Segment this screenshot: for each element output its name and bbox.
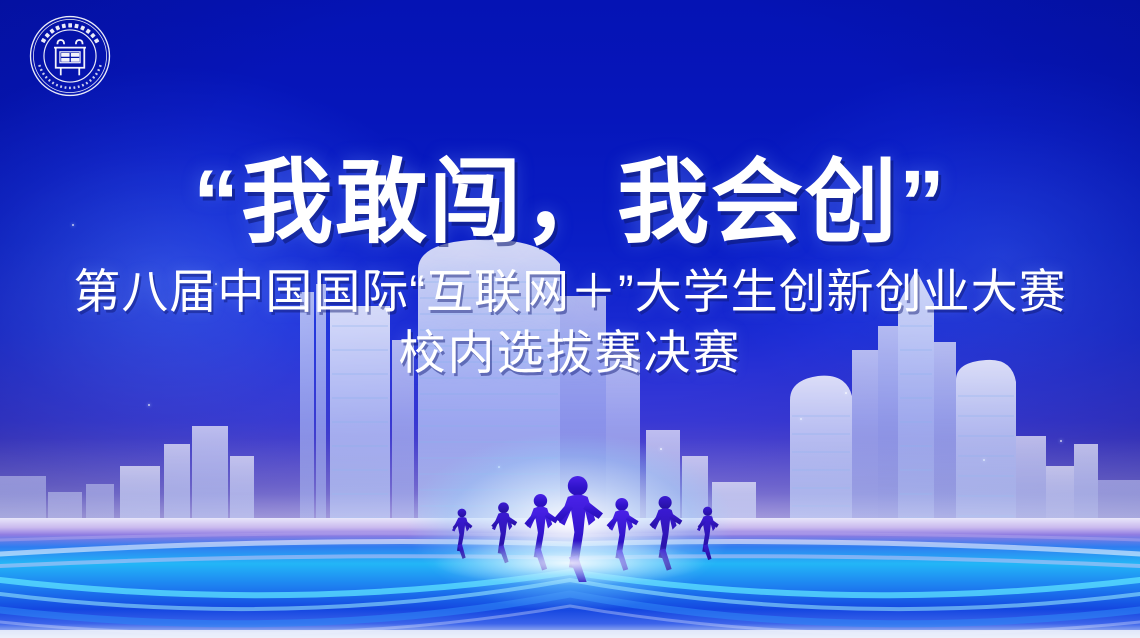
runner-silhouette xyxy=(607,498,639,571)
seal-inner-text xyxy=(61,53,79,62)
page-title: “我敢闯，我会创” xyxy=(0,155,1140,252)
university-logo xyxy=(28,14,112,98)
running-silhouettes xyxy=(0,472,1140,582)
event-poster: “我敢闯，我会创” 第八届中国国际“互联网＋”大学生创新创业大赛 校内选拔赛决赛 xyxy=(0,0,1140,638)
runner-silhouette xyxy=(524,494,558,570)
subtitle-line-1: 第八届中国国际“互联网＋”大学生创新创业大赛 xyxy=(0,264,1140,319)
runner-silhouette xyxy=(452,509,472,559)
runner-silhouette xyxy=(491,502,517,563)
runner-silhouette xyxy=(650,496,683,571)
runner-silhouette-lead xyxy=(555,476,603,582)
seal-rings xyxy=(31,17,110,96)
poster-text-block: “我敢闯，我会创” 第八届中国国际“互联网＋”大学生创新创业大赛 校内选拔赛决赛 xyxy=(0,155,1140,381)
subtitle-line-2: 校内选拔赛决赛 xyxy=(0,325,1140,380)
runner-silhouette xyxy=(697,507,719,560)
ding-vessel-icon xyxy=(54,40,86,75)
